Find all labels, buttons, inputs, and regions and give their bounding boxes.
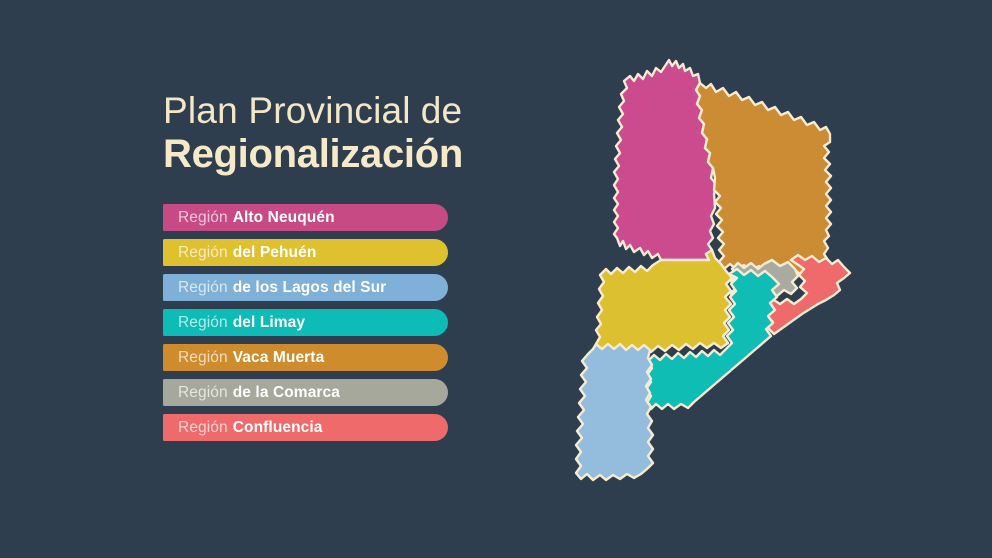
region-legend: Región Alto Neuquén Región del Pehuén Re…	[163, 204, 463, 449]
legend-prefix: Región	[178, 314, 228, 332]
legend-prefix: Región	[178, 384, 228, 402]
neuquen-province-map	[548, 38, 868, 518]
legend-label: de los Lagos del Sur	[233, 279, 387, 297]
map-region-vaca-muerta[interactable]	[696, 83, 831, 276]
legend-item-del-limay[interactable]: Región del Limay	[163, 309, 448, 336]
legend-item-vaca-muerta[interactable]: Región Vaca Muerta	[163, 344, 448, 371]
legend-label: de la Comarca	[233, 384, 340, 402]
legend-label: del Limay	[233, 314, 305, 332]
legend-item-confluencia[interactable]: Región Confluencia	[163, 414, 448, 441]
legend-prefix: Región	[178, 419, 228, 437]
title-line-1: Plan Provincialde	[163, 92, 583, 131]
legend-item-alto-neuquen[interactable]: Región Alto Neuquén	[163, 204, 448, 231]
map-region-del-pehuen[interactable]	[596, 250, 732, 354]
title-line-1-b: de	[421, 90, 463, 131]
legend-label: Alto Neuquén	[233, 209, 335, 227]
legend-item-de-la-comarca[interactable]: Región de la Comarca	[163, 379, 448, 406]
title-line-1-a: Plan Provincial	[163, 90, 411, 131]
legend-item-lagos-del-sur[interactable]: Región de los Lagos del Sur	[163, 274, 448, 301]
legend-prefix: Región	[178, 244, 228, 262]
title-line-2: Regionalización	[163, 131, 583, 177]
page-title: Plan Provincialde Regionalización	[163, 92, 583, 177]
legend-label: Vaca Muerta	[233, 349, 325, 367]
legend-item-del-pehuen[interactable]: Región del Pehuén	[163, 239, 448, 266]
legend-label: del Pehuén	[233, 244, 317, 262]
legend-prefix: Región	[178, 349, 228, 367]
legend-prefix: Región	[178, 279, 228, 297]
legend-prefix: Región	[178, 209, 228, 227]
slide-root: Plan Provincialde Regionalización Región…	[0, 0, 992, 558]
map-region-lagos-del-sur[interactable]	[576, 344, 653, 480]
legend-label: Confluencia	[233, 419, 323, 437]
map-svg	[548, 38, 868, 518]
